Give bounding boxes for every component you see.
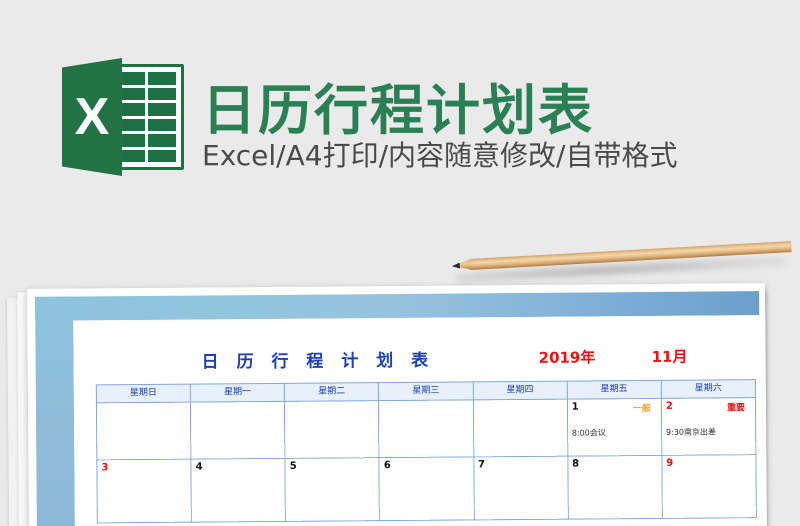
calendar-day-number: 3 (101, 462, 108, 473)
calendar-day-number: 4 (196, 462, 203, 473)
calendar-header-6: 星期六 (661, 380, 755, 399)
calendar-day-cell[interactable]: 1一般8:00会议 (567, 398, 662, 456)
calendar-day-cell[interactable] (379, 400, 474, 458)
calendar-week-row: 3456789 (97, 455, 756, 523)
calendar-day-event: 8:00会议 (572, 427, 606, 438)
document-year[interactable]: 2019年 (539, 346, 596, 367)
document-month[interactable]: 11月 (651, 346, 687, 367)
excel-sheet-grid (116, 72, 176, 162)
calendar-day-cell[interactable]: 5 (285, 458, 380, 522)
calendar-day-number: 8 (572, 459, 579, 470)
calendar-day-cell[interactable]: 3 (97, 459, 192, 523)
calendar-day-number: 2 (666, 401, 673, 412)
calendar-table: 星期日星期一星期二星期三星期四星期五星期六 1一般8:00会议2重要9:30南京… (96, 379, 757, 523)
document-preview[interactable]: 日 历 行 程 计 划 表 2019年 11月 星期日星期一星期二星期三星期四星… (27, 283, 767, 526)
calendar-day-number: 1 (572, 402, 579, 413)
calendar-day-tag: 重要 (727, 400, 745, 413)
calendar-day-number: 5 (290, 461, 297, 472)
calendar-day-tag: 一般 (633, 401, 651, 414)
excel-grid-cell (148, 103, 177, 116)
excel-grid-cell (148, 119, 177, 132)
calendar-day-event: 9:30南京出差 (666, 426, 716, 437)
document-left-band (35, 297, 75, 526)
calendar-day-cell[interactable]: 7 (473, 456, 568, 520)
calendar-header-1: 星期一 (190, 383, 284, 402)
calendar-day-cell[interactable]: 4 (191, 458, 286, 522)
excel-logo: X (62, 58, 184, 176)
document-header-row: 日 历 行 程 计 划 表 2019年 11月 (73, 339, 759, 378)
calendar-day-cell[interactable] (191, 401, 286, 459)
calendar-day-cell[interactable]: 2重要9:30南京出差 (661, 398, 756, 456)
calendar-day-cell[interactable]: 9 (662, 455, 757, 519)
calendar-day-number: 9 (666, 458, 673, 469)
excel-logo-letter: X (62, 58, 122, 176)
document-inner: 日 历 行 程 计 划 表 2019年 11月 星期日星期一星期二星期三星期四星… (35, 291, 761, 526)
excel-grid-cell (148, 134, 177, 147)
document-page: 日 历 行 程 计 划 表 2019年 11月 星期日星期一星期二星期三星期四星… (73, 315, 761, 526)
excel-grid-cell (148, 150, 177, 163)
calendar-header-2: 星期二 (285, 383, 379, 402)
page-subtitle: Excel/A4打印/内容随意修改/自带格式 (202, 134, 677, 174)
calendar-day-cell[interactable] (96, 402, 191, 460)
calendar-header-0: 星期日 (96, 384, 190, 403)
calendar-day-cell[interactable]: 6 (379, 457, 474, 521)
calendar-body: 1一般8:00会议2重要9:30南京出差3456789 (96, 398, 756, 523)
product-banner: X 日历行程计划表 Excel/A4打印/内容随意修改/自带格式 (0, 0, 800, 250)
calendar-day-cell[interactable] (285, 401, 380, 459)
calendar-header-3: 星期三 (379, 382, 473, 401)
screenshot-canvas: X 日历行程计划表 Excel/A4打印/内容随意修改/自带格式 日 历 行 程… (0, 0, 800, 526)
calendar-week-row: 1一般8:00会议2重要9:30南京出差 (96, 398, 755, 460)
excel-grid-cell (148, 88, 177, 101)
calendar-day-cell[interactable]: 8 (568, 455, 663, 519)
document-title: 日 历 行 程 计 划 表 (201, 346, 434, 373)
calendar-day-number: 6 (384, 460, 391, 471)
pencil-tip (452, 259, 473, 271)
calendar-header-4: 星期四 (473, 381, 567, 400)
calendar-day-number: 7 (478, 459, 485, 470)
excel-grid-cell (148, 72, 177, 85)
calendar-header-5: 星期五 (567, 380, 661, 399)
calendar-day-cell[interactable] (473, 399, 568, 457)
